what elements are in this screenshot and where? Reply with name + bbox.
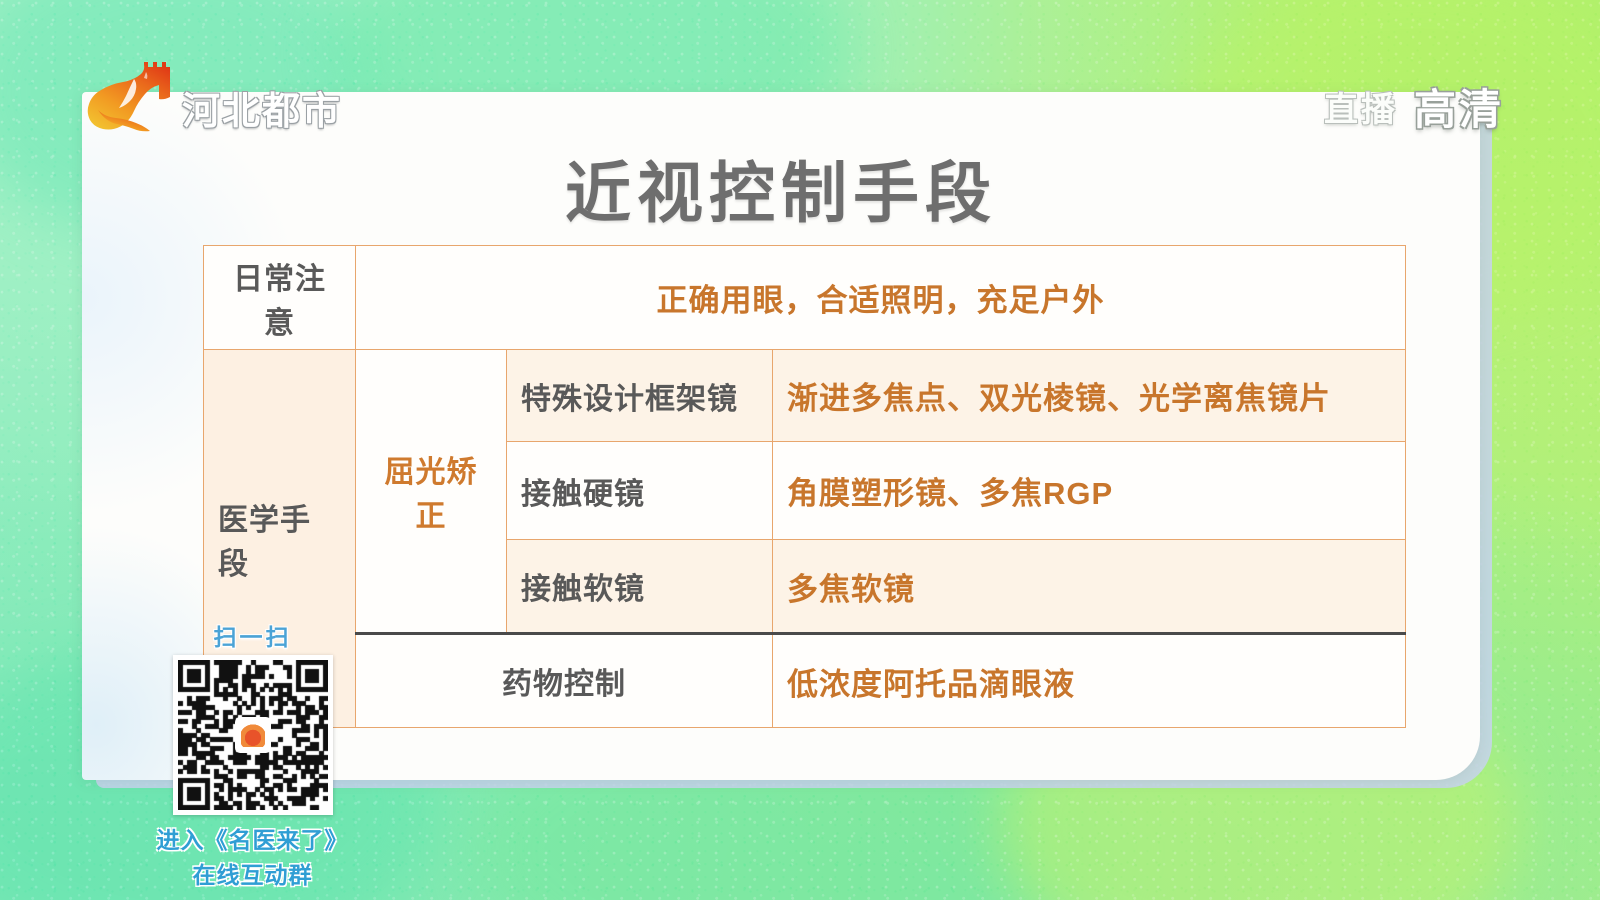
row-method-rigid-lens: 接触硬镜	[507, 442, 773, 540]
page-title: 近视控制手段	[82, 140, 1480, 236]
channel-logo: 河北都市	[84, 56, 342, 143]
row-method-medication: 药物控制	[356, 634, 773, 728]
myopia-control-table: 日常注意 正确用眼，合适照明，充足户外 医学手段 屈光矫正 特殊设计框架镜 渐进…	[203, 245, 1406, 728]
row-subcategory-refractive: 屈光矫正	[356, 350, 507, 634]
qr-scan-label: 扫一扫	[155, 618, 350, 652]
live-hd-badge: 直播 高清	[1324, 76, 1504, 137]
row-detail-rigid-lens: 角膜塑形镜、多焦RGP	[773, 442, 1406, 540]
row-detail-medication: 低浓度阿托品滴眼液	[773, 634, 1406, 728]
row-method-special-frame: 特殊设计框架镜	[507, 350, 773, 442]
row-method-soft-lens: 接触软镜	[507, 540, 773, 634]
channel-name: 河北都市	[182, 80, 342, 135]
table-row: 医学手段 屈光矫正 特殊设计框架镜 渐进多焦点、双光棱镜、光学离焦镜片	[204, 350, 1406, 442]
qr-center-logo	[237, 719, 269, 751]
hd-label: 高清	[1414, 76, 1504, 137]
row-detail-special-frame: 渐进多焦点、双光棱镜、光学离焦镜片	[773, 350, 1406, 442]
row-category-daily: 日常注意	[204, 246, 356, 350]
qr-code-icon[interactable]	[173, 655, 333, 815]
great-wall-tower-icon	[84, 56, 180, 143]
qr-promo-block[interactable]: 扫一扫 进入《名医来了》 在线互动群	[155, 618, 350, 890]
row-detail-soft-lens: 多焦软镜	[773, 540, 1406, 634]
table-row: 日常注意 正确用眼，合适照明，充足户外	[204, 246, 1406, 350]
row-content-daily: 正确用眼，合适照明，充足户外	[356, 246, 1406, 350]
qr-caption-line2: 在线互动群	[155, 856, 350, 890]
table-row: 药物控制 低浓度阿托品滴眼液	[204, 634, 1406, 728]
live-label: 直播	[1324, 82, 1398, 131]
qr-center-logo-mark	[241, 723, 265, 747]
qr-caption-line1: 进入《名医来了》	[155, 821, 350, 855]
myopia-control-table-wrapper: 日常注意 正确用眼，合适照明，充足户外 医学手段 屈光矫正 特殊设计框架镜 渐进…	[203, 245, 1405, 727]
